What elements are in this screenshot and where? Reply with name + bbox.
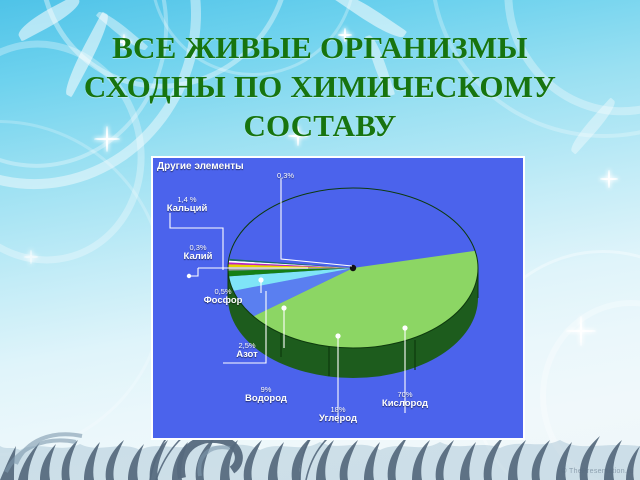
label-hydrogen: 9% Водород [231,386,301,404]
label-other-elements: Другие элементы [157,162,244,173]
label-phosphorus: 0,5% Фосфор [189,288,257,306]
label-potassium-name: Калий [167,252,229,262]
label-calcium-name: Кальций [155,204,219,214]
title-line-2: СХОДНЫ ПО ХИМИЧЕСКОМУ [0,67,640,106]
label-phosphorus-name: Фосфор [189,296,257,306]
label-other-elements-pct: 0,3% [277,172,294,180]
page-title: ВСЕ ЖИВЫЕ ОРГАНИЗМЫ СХОДНЫ ПО ХИМИЧЕСКОМ… [0,28,640,145]
label-oxygen: 70% Кислород [367,391,443,409]
title-line-3: СОСТАВУ [0,106,640,145]
label-oxygen-name: Кислород [367,399,443,409]
title-line-1: ВСЕ ЖИВЫЕ ОРГАНИЗМЫ [0,28,640,67]
label-hydrogen-name: Водород [231,394,301,404]
label-nitrogen: 2,5% Азот [219,342,275,360]
label-carbon: 18% Углерод [303,406,373,424]
label-other-elements-pct-wrap: 0,3% [277,172,294,180]
decorative-swirl-icon [0,120,166,456]
slide-canvas: ВСЕ ЖИВЫЕ ОРГАНИЗМЫ СХОДНЫ ПО ХИМИЧЕСКОМ… [0,0,640,480]
watermark: © ThePresentation.ru [561,468,634,475]
label-potassium: 0,3% Калий [167,244,229,262]
sparkle-icon [24,250,38,264]
decorative-swirl-icon [540,300,640,480]
pie-chart-panel: Другие элементы 0,3% 1,4 % Кальций 0,3% … [151,156,525,440]
sparkle-icon [566,316,596,346]
sparkle-icon [600,170,618,188]
label-nitrogen-name: Азот [219,350,275,360]
label-other-elements-name: Другие элементы [157,162,244,173]
label-carbon-name: Углерод [303,414,373,424]
label-calcium: 1,4 % Кальций [155,196,219,214]
